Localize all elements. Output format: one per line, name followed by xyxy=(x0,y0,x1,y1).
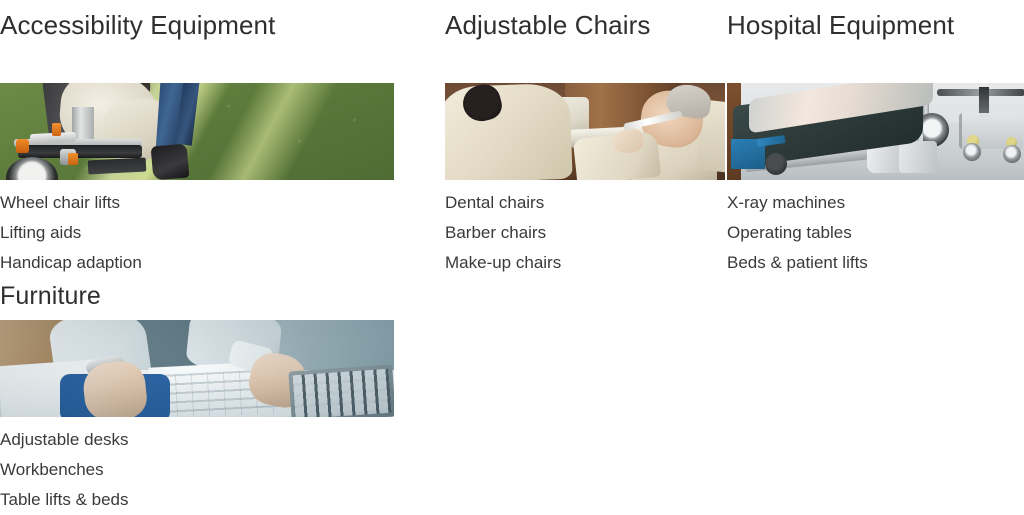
category-overview-page: Accessibility Equipment Wheel chair lift… xyxy=(0,0,1024,498)
category-image-accessibility-equipment[interactable] xyxy=(0,83,394,180)
category-list-hospital-equipment: X-ray machines Operating tables Beds & p… xyxy=(727,180,1024,278)
category-column-hospital-equipment: Hospital Equipment X-ray machines xyxy=(727,0,1024,278)
list-item[interactable]: Barber chairs xyxy=(445,218,725,248)
category-list-accessibility-equipment: Wheel chair lifts Lifting aids Handicap … xyxy=(0,180,400,278)
list-item[interactable]: Workbenches xyxy=(0,455,400,485)
list-item[interactable]: X-ray machines xyxy=(727,188,1024,218)
wheelchair-reflector-mid xyxy=(52,123,61,136)
list-item[interactable]: Dental chairs xyxy=(445,188,725,218)
list-item[interactable]: Operating tables xyxy=(727,218,1024,248)
category-list-furniture: Adjustable desks Workbenches Table lifts… xyxy=(0,417,400,515)
list-item[interactable]: Wheel chair lifts xyxy=(0,188,400,218)
operating-table-pedestal-lower xyxy=(899,141,937,173)
category-heading-hospital-equipment: Hospital Equipment xyxy=(727,0,1024,41)
category-image-adjustable-chairs[interactable] xyxy=(445,83,725,180)
category-column-adjustable-chairs: Adjustable Chairs Dental chairs Barber c… xyxy=(445,0,725,278)
category-column-accessibility-equipment: Accessibility Equipment Wheel chair lift… xyxy=(0,0,400,515)
wheelchair-seat-bar xyxy=(18,145,142,158)
trolley-wheel-left xyxy=(963,143,981,161)
trolley-wheel-right xyxy=(1003,145,1021,163)
list-item[interactable]: Table lifts & beds xyxy=(0,485,400,515)
image-vignette xyxy=(0,320,394,417)
list-item[interactable]: Beds & patient lifts xyxy=(727,248,1024,278)
list-item[interactable]: Make-up chairs xyxy=(445,248,725,278)
category-heading-furniture: Furniture xyxy=(0,278,400,312)
standing-person-boot xyxy=(151,143,190,180)
list-item[interactable]: Adjustable desks xyxy=(0,425,400,455)
category-heading-accessibility-equipment: Accessibility Equipment xyxy=(0,0,400,41)
category-list-adjustable-chairs: Dental chairs Barber chairs Make-up chai… xyxy=(445,180,725,278)
table-caster xyxy=(765,153,787,175)
list-item[interactable]: Lifting aids xyxy=(0,218,400,248)
category-heading-adjustable-chairs: Adjustable Chairs xyxy=(445,0,725,41)
category-image-furniture[interactable] xyxy=(0,320,394,417)
category-image-hospital-equipment[interactable] xyxy=(727,83,1024,180)
wheelchair-reflector-lower xyxy=(68,153,78,165)
list-item[interactable]: Handicap adaption xyxy=(0,248,400,278)
wheelchair-reflector-front xyxy=(16,139,29,153)
